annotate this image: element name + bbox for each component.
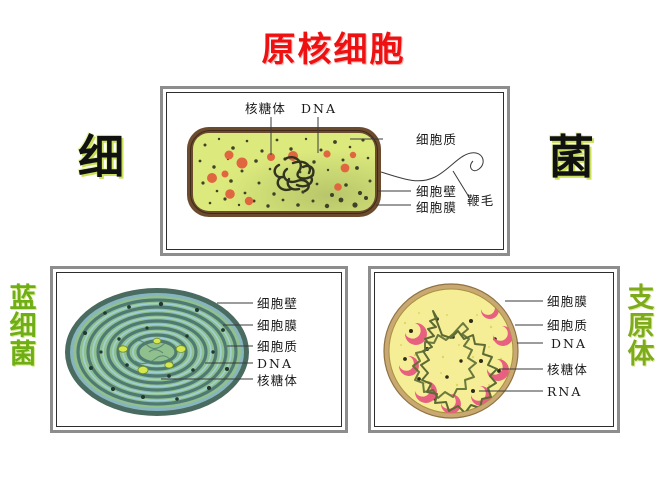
label-bacteria-cell-membrane: 细胞膜 [416, 200, 457, 215]
label-bacteria-ribosome: 核糖体 [245, 101, 286, 116]
bacteria-flagellum [381, 153, 483, 181]
label-bacteria-cell-wall: 细胞壁 [416, 184, 457, 199]
figure-bacteria-canvas: 核糖体 DNA 细胞质 细胞壁 细胞膜 鞭毛 [166, 92, 504, 250]
label-cyano-ribosome: 核糖体 [257, 373, 298, 388]
label-myco-cytoplasm: 细胞质 [547, 318, 588, 333]
label-bacteria-flagellum: 鞭毛 [467, 193, 494, 208]
mycoplasma-diagram: 细胞膜 细胞质 DNA 核糖体 RNA [375, 273, 614, 427]
figure-frame-cyanobacteria: 细胞壁 细胞膜 细胞质 DNA 核糖体 [50, 266, 348, 433]
figure-frame-mycoplasma: 细胞膜 细胞质 DNA 核糖体 RNA [368, 266, 620, 433]
label-cyano-cell-membrane: 细胞膜 [257, 318, 298, 333]
side-char-left: 细 [78, 134, 124, 180]
label-myco-rna: RNA [547, 384, 582, 399]
label-bacteria-cytoplasm: 细胞质 [416, 132, 457, 147]
label-cyano-cytoplasm: 细胞质 [257, 339, 298, 354]
myco-cytoplasm [389, 289, 513, 413]
figure-mycoplasma-canvas: 细胞膜 细胞质 DNA 核糖体 RNA [374, 272, 614, 427]
label-myco-dna: DNA [551, 336, 587, 351]
figure-frame-bacteria: 核糖体 DNA 细胞质 细胞壁 细胞膜 鞭毛 [160, 86, 510, 256]
label-bacteria-dna: DNA [301, 101, 337, 116]
slide-canvas: 原核细胞 细 菌 蓝细菌 支原体 [0, 0, 667, 500]
vertical-label-cyanobacteria: 蓝细菌 [6, 283, 34, 367]
cyanobacteria-diagram: 细胞壁 细胞膜 细胞质 DNA 核糖体 [57, 273, 342, 427]
bacteria-diagram: 核糖体 DNA 细胞质 细胞壁 细胞膜 鞭毛 [167, 93, 504, 250]
label-cyano-cell-wall: 细胞壁 [257, 296, 298, 311]
figure-cyanobacteria-canvas: 细胞壁 细胞膜 细胞质 DNA 核糖体 [56, 272, 342, 427]
label-cyano-dna: DNA [257, 356, 293, 371]
label-myco-cell-membrane: 细胞膜 [547, 294, 588, 309]
cyano-thylakoids [73, 296, 241, 408]
side-char-right: 菌 [548, 134, 594, 180]
page-title: 原核细胞 [0, 22, 667, 71]
vertical-label-mycoplasma: 支原体 [624, 283, 652, 367]
label-myco-ribosome: 核糖体 [547, 362, 588, 377]
